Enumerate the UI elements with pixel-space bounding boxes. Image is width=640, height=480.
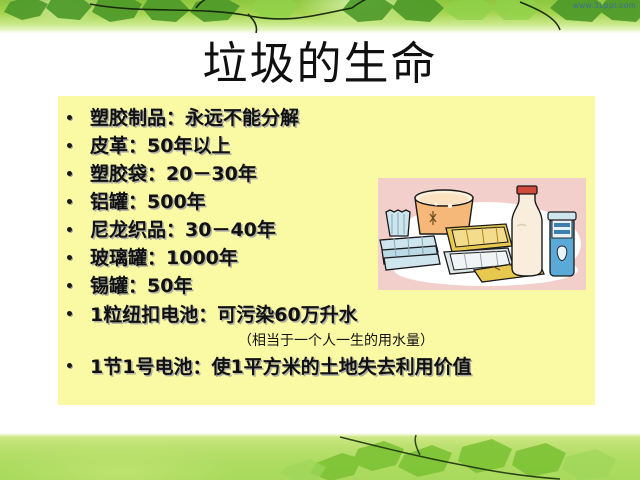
bullet-dot-icon [67, 227, 72, 232]
bullet-dot-icon [67, 255, 72, 260]
list-item-label: 皮革：50年以上 [90, 135, 230, 157]
bullet-dot-icon [67, 363, 72, 368]
list-item-note: （相当于一个人一生的用水量） [58, 330, 595, 352]
list-item-label: 尼龙织品：30－40年 [90, 219, 276, 241]
bullet-dot-icon [67, 311, 72, 316]
list-item: 塑胶制品：永远不能分解 [58, 104, 595, 132]
list-item: 锡罐：50年 [58, 272, 595, 300]
list-item-label: 铝罐：500年 [90, 191, 206, 213]
slide-canvas: www.3Lppt.com 垃圾的生命 [0, 0, 640, 480]
bottom-leaf-graphic [0, 433, 640, 480]
top-leaf-band: www.3Lppt.com [0, 0, 640, 33]
bullet-dot-icon [67, 115, 72, 120]
list-item: 尼龙织品：30－40年 [58, 216, 595, 244]
list-item-label: 玻璃罐：1000年 [90, 247, 238, 269]
note-label: （相当于一个人一生的用水量） [238, 333, 434, 349]
list-item-label: 1粒纽扣电池：可污染60万升水 [90, 304, 358, 326]
list-item: 铝罐：500年 [58, 188, 595, 216]
list-item: 玻璃罐：1000年 [58, 244, 595, 272]
list-item: 皮革：50年以上 [58, 132, 595, 160]
bottom-leaf-band [0, 433, 640, 480]
page-title: 垃圾的生命 [0, 33, 640, 95]
list-item: 1节1号电池：使1平方米的土地失去利用价值 [58, 352, 595, 382]
list-item-label: 1节1号电池：使1平方米的土地失去利用价值 [90, 356, 472, 378]
list-item-label: 塑胶袋：20－30年 [90, 163, 257, 185]
list-item-label: 塑胶制品：永远不能分解 [90, 107, 299, 129]
bullet-dot-icon [67, 283, 72, 288]
list-item: 塑胶袋：20－30年 [58, 160, 595, 188]
bullet-dot-icon [67, 199, 72, 204]
content-panel: 塑胶制品：永远不能分解 皮革：50年以上 塑胶袋：20－30年 铝罐：500年 … [58, 96, 595, 405]
list-item-label: 锡罐：50年 [90, 275, 192, 297]
list-item: 1粒纽扣电池：可污染60万升水 [58, 300, 595, 330]
watermark-text: www.3Lppt.com [573, 1, 636, 10]
bullet-dot-icon [67, 143, 72, 148]
bullet-list: 塑胶制品：永远不能分解 皮革：50年以上 塑胶袋：20－30年 铝罐：500年 … [58, 104, 595, 382]
bullet-dot-icon [67, 171, 72, 176]
top-leaf-graphic [0, 0, 640, 33]
